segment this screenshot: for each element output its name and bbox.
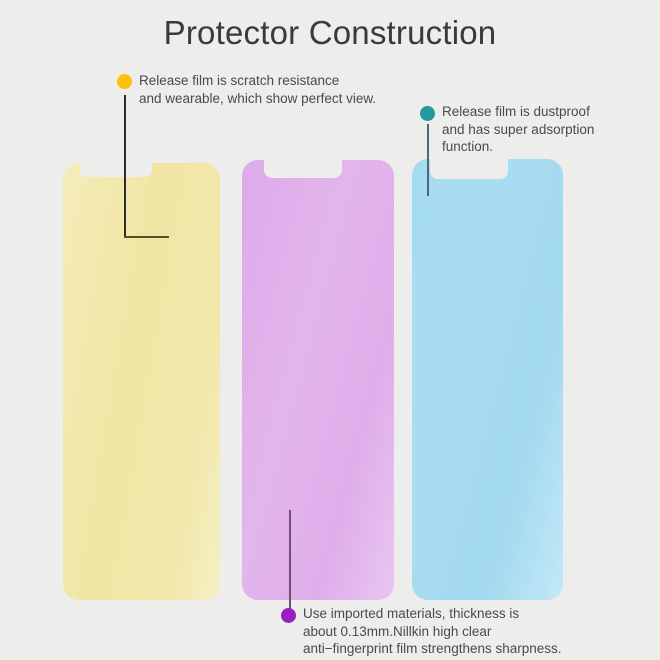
callout-dot-yellow-icon [117,74,132,89]
callout-text-teal: Release film is dustproof and has super … [442,103,594,156]
screen-protector-main [242,160,394,600]
film-body-blue [412,159,563,600]
page-title: Protector Construction [0,14,660,52]
film-notch-blue [430,157,508,179]
release-film-front [63,163,220,600]
film-notch-purple [264,158,342,178]
leader-line-yellow-horizontal [124,236,169,238]
leader-line-purple-vertical [289,510,291,610]
film-body-yellow [63,163,220,600]
leader-line-yellow-vertical [124,95,126,238]
callout-text-purple: Use imported materials, thickness is abo… [303,605,562,658]
film-body-purple [242,160,394,600]
callout-dot-teal-icon [420,106,435,121]
callout-dot-purple-icon [281,608,296,623]
release-film-back [412,159,563,600]
leader-line-teal-vertical [427,124,429,196]
film-notch-yellow [80,161,152,177]
product-diagram-canvas: Protector Construction Release film is s… [0,0,660,660]
callout-text-yellow: Release film is scratch resistance and w… [139,72,376,107]
